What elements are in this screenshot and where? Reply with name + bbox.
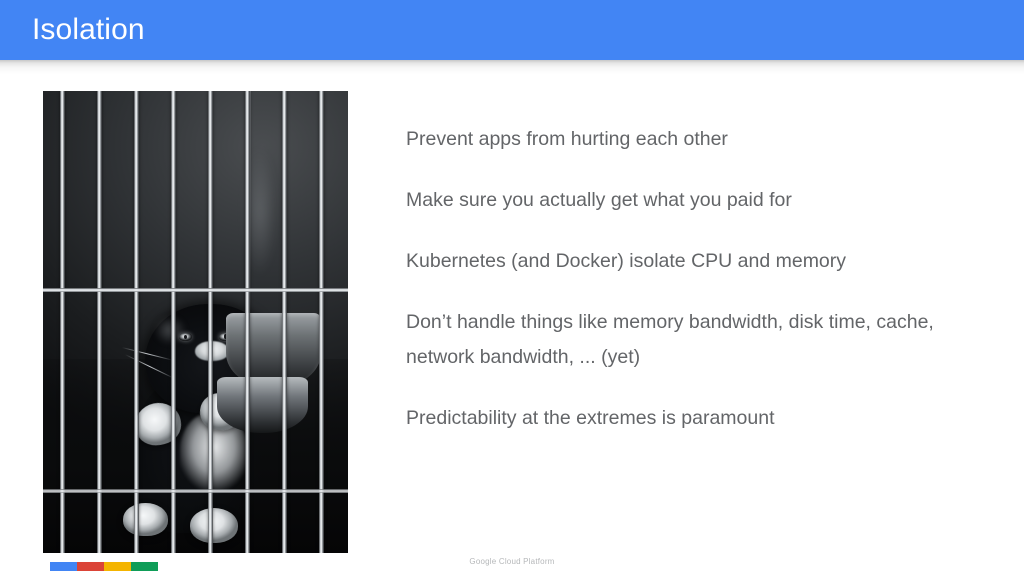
title-bar: Isolation	[0, 0, 1024, 60]
slide: Isolation	[0, 0, 1024, 577]
cage-bar-vertical	[208, 91, 213, 553]
title-bar-shadow	[0, 60, 1024, 74]
cage-bar-vertical	[134, 91, 139, 553]
cage-bar-vertical	[171, 91, 176, 553]
cage-bar-vertical	[60, 91, 65, 553]
cage-bar-vertical	[282, 91, 287, 553]
cage-bar-horizontal	[43, 489, 348, 493]
cage-bar-vertical	[245, 91, 250, 553]
page-title: Isolation	[32, 12, 145, 48]
bullet-paragraph: Make sure you actually get what you paid…	[406, 183, 974, 218]
cage-bars	[43, 91, 348, 553]
footer-brand-label: Google Cloud Platform	[0, 556, 1024, 568]
cage-bar-horizontal	[43, 288, 348, 292]
bullet-paragraph: Kubernetes (and Docker) isolate CPU and …	[406, 244, 974, 279]
bullet-paragraph: Don’t handle things like memory bandwidt…	[406, 305, 974, 375]
body-copy: Prevent apps from hurting each other Mak…	[406, 122, 974, 436]
cage-bar-vertical	[97, 91, 102, 553]
cage-bar-vertical	[319, 91, 324, 553]
bullet-paragraph: Predictability at the extremes is paramo…	[406, 401, 974, 436]
bullet-paragraph: Prevent apps from hurting each other	[406, 122, 974, 157]
cat-in-cage-photo	[43, 91, 348, 553]
